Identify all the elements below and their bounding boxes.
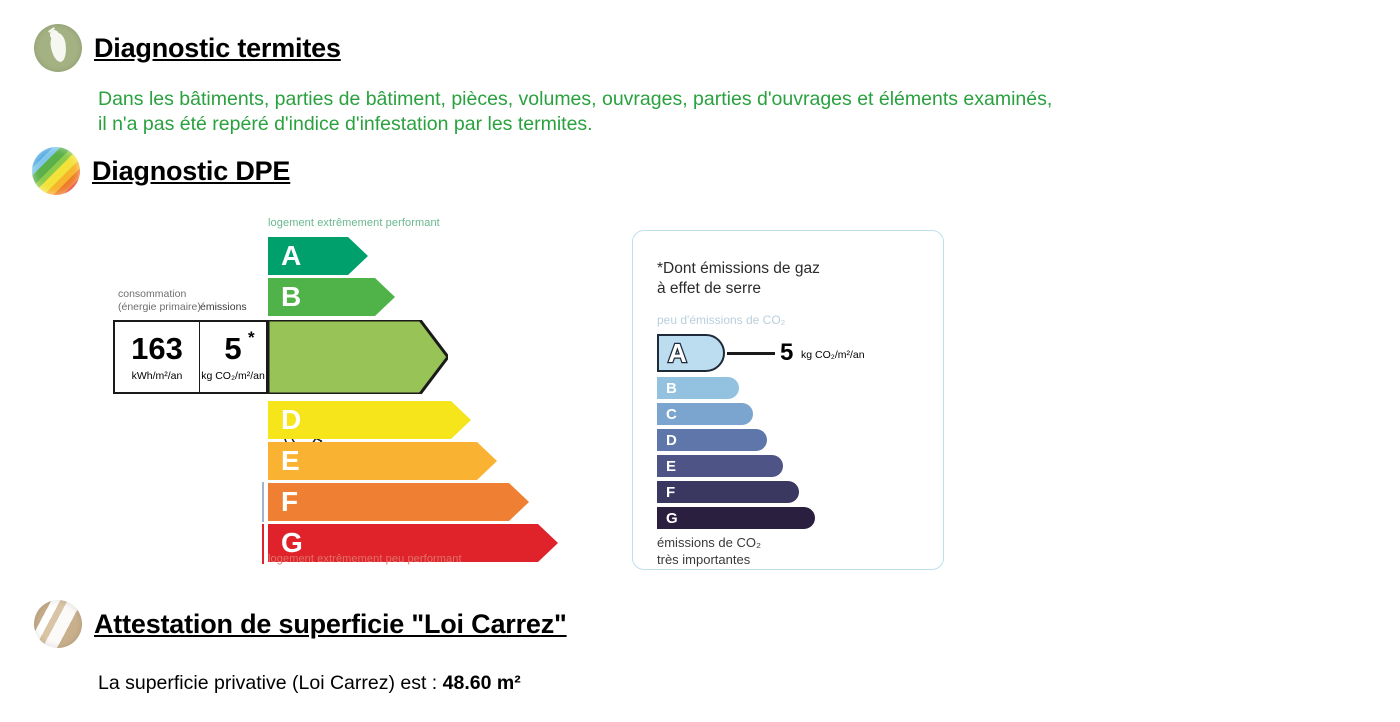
rainbow-icon xyxy=(32,147,80,195)
energy-bar-C-selected: C xyxy=(268,320,448,394)
co2-bar-D-label: D xyxy=(666,433,677,448)
co2-unit: kg CO₂/m²/an xyxy=(201,370,265,382)
termites-description-line2: il n'a pas été repéré d'indice d'infesta… xyxy=(98,112,1398,137)
co2-bar-C-label: C xyxy=(666,407,677,422)
energy-marker-F xyxy=(262,482,264,522)
co2-bar-G-label: G xyxy=(666,511,678,526)
energy-bar-F: F xyxy=(268,483,529,521)
section-title-carrez: Attestation de superficie "Loi Carrez" xyxy=(94,609,567,640)
section-title-dpe: Diagnostic DPE xyxy=(92,156,290,187)
co2-value-asterisk: * xyxy=(248,329,255,346)
energy-bar-B-label: B xyxy=(281,283,301,311)
co2-bar-B: B xyxy=(657,377,739,399)
termites-description: Dans les bâtiments, parties de bâtiment,… xyxy=(98,87,1398,137)
energy-bar-A-label: A xyxy=(281,242,301,270)
co2-value: 5 xyxy=(224,331,241,366)
co2-panel-title: *Dont émissions de gaz à effet de serre xyxy=(657,259,820,299)
ruler-icon xyxy=(34,600,82,648)
co2-bar-C: C xyxy=(657,403,753,425)
co2-caption-bottom-line2: très importantes xyxy=(657,551,761,568)
co2-bar-E-label: E xyxy=(666,459,676,474)
label-consommation: consommation (énergie primaire) xyxy=(118,288,201,314)
energy-bar-D-label: D xyxy=(281,406,301,434)
energy-bar-E-label: E xyxy=(281,447,300,475)
co2-bar-F-label: F xyxy=(666,485,675,500)
carrez-value: 48.60 m² xyxy=(443,672,521,694)
energy-bar-G-label: G xyxy=(281,529,303,557)
co2-bar-E: E xyxy=(657,455,783,477)
co2-caption-bottom-line1: émissions de CO₂ xyxy=(657,534,761,551)
co2-bar-B-label: B xyxy=(666,381,677,396)
energy-bar-E-shape xyxy=(268,442,497,480)
termites-description-line1: Dans les bâtiments, parties de bâtiment,… xyxy=(98,87,1398,112)
section-termites: Diagnostic termites xyxy=(34,24,341,72)
energy-value: 163 xyxy=(131,333,183,364)
co2-unit-display: kg CO₂/m²/an xyxy=(801,349,865,361)
energy-bar-E: E xyxy=(268,442,497,480)
energy-value-box: 163 kWh/m²/an 5* kg CO₂/m²/an xyxy=(113,320,268,394)
co2-leader-line xyxy=(727,352,775,355)
energy-value-cell: 163 kWh/m²/an xyxy=(115,322,199,392)
section-title-termites: Diagnostic termites xyxy=(94,33,341,64)
co2-value-cell: 5* kg CO₂/m²/an xyxy=(199,322,266,392)
co2-caption-bottom: émissions de CO₂ très importantes xyxy=(657,534,761,568)
energy-bar-D: D xyxy=(268,401,471,439)
co2-bar-A-label: A xyxy=(668,340,687,366)
co2-bar-A-selected: A xyxy=(657,334,725,372)
carrez-description-prefix: La superficie privative (Loi Carrez) est… xyxy=(98,672,443,694)
co2-bar-F: F xyxy=(657,481,799,503)
carrez-description: La superficie privative (Loi Carrez) est… xyxy=(98,671,521,696)
dpe-graphic: logement extrêmement performant A B cons… xyxy=(100,215,1000,580)
energy-bar-A: A xyxy=(268,237,368,275)
co2-value-display: 5 xyxy=(780,341,793,365)
energy-consumption-chart: logement extrêmement performant A B cons… xyxy=(100,215,600,580)
co2-emissions-chart: *Dont émissions de gaz à effet de serre … xyxy=(632,230,944,570)
co2-caption-top: peu d'émissions de CO₂ xyxy=(657,313,785,327)
energy-bar-C-shape xyxy=(268,320,448,394)
co2-bar-D: D xyxy=(657,429,767,451)
energy-bar-F-label: F xyxy=(281,488,298,516)
energy-caption-top: logement extrêmement performant xyxy=(268,217,440,229)
termite-icon xyxy=(34,24,82,72)
energy-bar-F-shape xyxy=(268,483,529,521)
co2-value-wrap: 5* xyxy=(224,333,241,364)
co2-bar-G: G xyxy=(657,507,815,529)
section-carrez: Attestation de superficie "Loi Carrez" xyxy=(34,600,567,648)
label-emissions: émissions xyxy=(200,301,247,313)
co2-panel-title-line2: à effet de serre xyxy=(657,279,820,299)
energy-unit: kWh/m²/an xyxy=(132,370,183,382)
energy-marker-G xyxy=(262,524,264,564)
section-dpe: Diagnostic DPE xyxy=(32,147,290,195)
co2-panel-title-line1: *Dont émissions de gaz xyxy=(657,259,820,279)
energy-bar-B: B xyxy=(268,278,395,316)
